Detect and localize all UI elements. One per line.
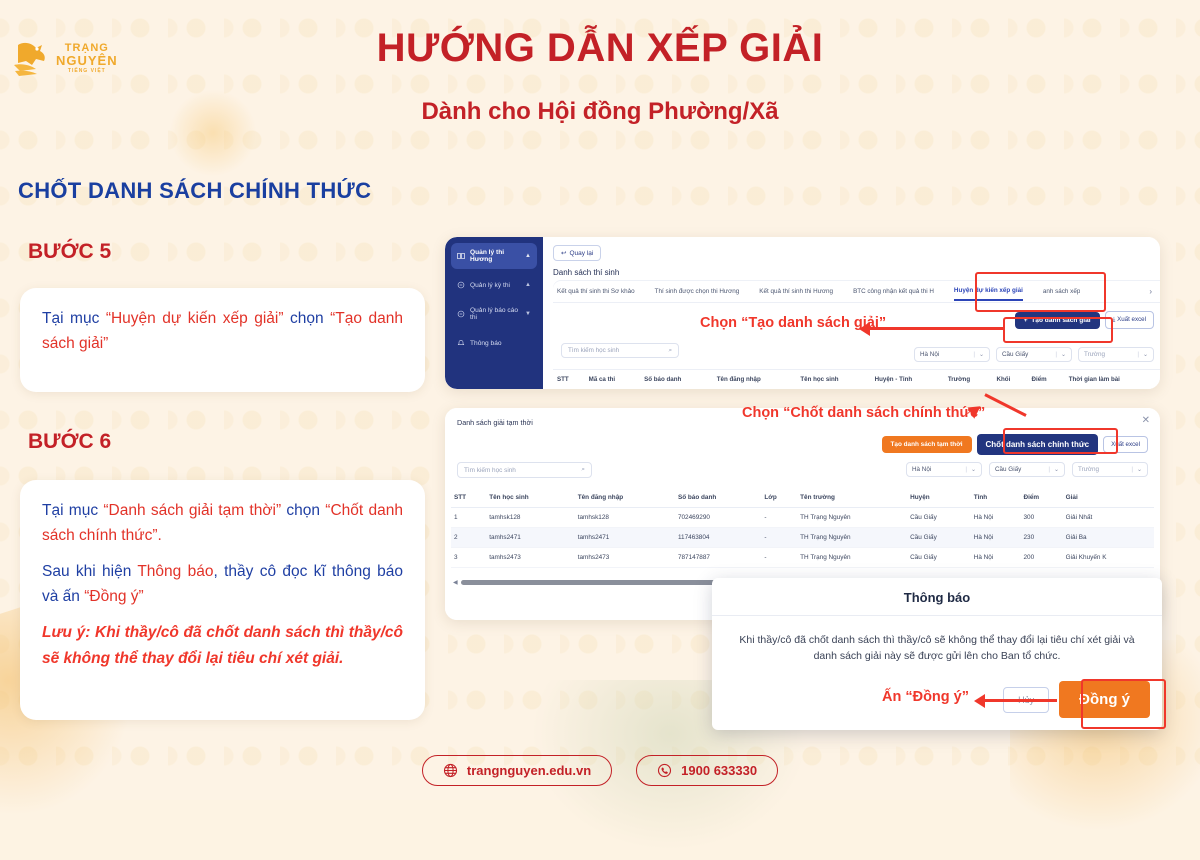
footer: trangnguyen.edu.vn 1900 633330 [0,755,1200,786]
table-row[interactable]: 3tamhs2473tamhs2473787147887-TH Trạng Ng… [451,548,1154,568]
table-cell: Cầu Giấy [907,508,971,528]
table-cell: Giải Ba [1063,528,1154,548]
column-header: Tỉnh [971,488,1021,508]
table-cell: Hà Nội [971,508,1021,528]
table-cell: tamhs2473 [575,548,675,568]
search-icon: ⌕ [668,347,672,355]
book-icon [457,252,465,260]
table-cell: Hà Nội [971,528,1021,548]
column-header: Tên học sinh [486,488,574,508]
chevron-down-icon: ⌄ [971,466,976,473]
table-row[interactable]: 2tamhs2471tamhs2471117463804-TH Trạng Ng… [451,528,1154,548]
tab-bar: Kết quả thí sinh thi Sơ khảo Thí sinh đư… [553,281,1160,303]
globe-icon [443,763,458,778]
search-placeholder: Tìm kiếm học sinh [568,347,619,354]
step-5-text: Tại mục “Huyện dự kiến xếp giải” chọn “T… [42,306,403,356]
export-excel-button[interactable]: Xuất excel [1103,436,1148,453]
table-cell: 1 [451,508,486,528]
table-cell: tamhs2471 [575,528,675,548]
filter-group: Hà Nội |⌄ Cầu Giấy |⌄ Trường |⌄ [906,462,1148,477]
column-header: Tên học sinh [796,370,870,390]
search-input[interactable]: Tìm kiếm học sinh ⌕ [457,462,592,478]
table-cell: 300 [1020,508,1062,528]
filter-province-select[interactable]: Hà Nội |⌄ [906,462,982,477]
section-heading: CHỐT DANH SÁCH CHÍNH THỨC [18,178,371,204]
phone-label: 1900 633330 [681,763,757,778]
table-cell: 230 [1020,528,1062,548]
phone-icon [657,763,672,778]
table-cell: 787147887 [675,548,761,568]
table-cell: TH Trạng Nguyên [797,508,907,528]
chevron-down-icon: ⌄ [1061,351,1066,358]
award-toolbar: Tạo danh sách tạm thời Chốt danh sách ch… [882,434,1149,455]
table-cell: 702469290 [675,508,761,528]
filter-value: Cầu Giấy [995,466,1021,473]
table-cell: Giải Khuyến K [1063,548,1154,568]
panel-card: Kết quả thí sinh thi Sơ khảo Thí sinh đư… [553,281,1160,389]
plus-icon: + [1024,317,1028,324]
step-6-text-2: Sau khi hiện Thông báo, thầy cô đọc kĩ t… [42,559,403,609]
column-header: Số báo danh [640,370,713,390]
undo-arrow-icon: ↩ [561,249,566,257]
finalize-list-button[interactable]: Chốt danh sách chính thức [977,434,1099,455]
table-header-row: STTTên học sinhTên đăng nhậpSố báo danhL… [451,488,1154,508]
sidebar-item-quan-ly-thi-huong[interactable]: Quản lý thi Hương ▲ [451,243,537,269]
step-6-text-1: Tại mục “Danh sách giải tạm thời” chọn “… [42,498,403,548]
filter-value: Trường [1084,351,1105,358]
page-subtitle: Dành cho Hội đồng Phường/Xã [0,98,1200,126]
filter-province-select[interactable]: Hà Nội |⌄ [914,347,990,362]
tab-thi-sinh-duoc-chon[interactable]: Thí sinh được chọn thi Hương [655,283,740,300]
annotation-confirm: Ấn “Đồng ý” [882,689,969,705]
sidebar-item-quan-ly-bao-cao-thi[interactable]: Quản lý báo cáo thi ▼ [451,301,537,327]
arrow-head-1 [859,322,870,336]
table-header-row: STTMã ca thiSố báo danhTên đăng nhậpTên … [553,370,1160,390]
bell-icon [457,339,465,347]
award-panel-title: Danh sách giải tạm thời [457,418,533,427]
table-cell: tamhsk128 [575,508,675,528]
step-6-label: BƯỚC 6 [28,430,111,454]
sidebar-item-thong-bao[interactable]: Thông báo [451,333,537,353]
step-6-card: Tại mục “Danh sách giải tạm thời” chọn “… [20,480,425,720]
table-cell: 3 [451,548,486,568]
chevron-down-icon: ⌄ [979,351,984,358]
sidebar-label: Thông báo [470,340,502,347]
minus-circle-icon [457,310,465,318]
chevron-down-icon: ⌄ [1137,466,1142,473]
chevron-up-icon: ▲ [525,282,531,288]
column-header: Tên đăng nhập [713,370,797,390]
tab-huyen-du-kien-xep-giai[interactable]: Huyện dự kiến xếp giải [954,282,1023,301]
page-title: HƯỚNG DẪN XẾP GIẢI [0,26,1200,71]
column-header: Điểm [1020,488,1062,508]
table-cell: - [761,528,797,548]
filter-value: Hà Nội [920,351,939,358]
table-cell: - [761,548,797,568]
chevron-down-icon: ⌄ [1143,351,1148,358]
step-5-label: BƯỚC 5 [28,240,111,264]
filter-district-select[interactable]: Cầu Giấy |⌄ [996,347,1072,362]
confirmation-modal: Thông báo Khi thầy/cô đã chốt danh sách … [712,578,1162,730]
sidebar-label: Quản lý thi Hương [470,249,520,263]
column-header: Giải [1063,488,1154,508]
column-header: Tên trường [797,488,907,508]
create-temp-list-button[interactable]: Tạo danh sách tạm thời [882,436,972,453]
arrow-head-3 [974,694,985,708]
confirm-button[interactable]: Đồng ý [1059,681,1150,718]
column-header: STT [451,488,486,508]
export-excel-label: Xuất excel [1117,316,1146,323]
column-header: Tên đăng nhập [575,488,675,508]
column-header: Trường [944,370,993,390]
column-header: Lớp [761,488,797,508]
tab-danh-sach-xep-giai[interactable]: anh sách xếp [1043,283,1080,300]
filter-school-select[interactable]: Trường |⌄ [1078,347,1154,362]
sidebar-item-quan-ly-ky-thi[interactable]: Quản lý kỳ thi ▲ [451,275,537,295]
table-cell: Cầu Giấy [907,528,971,548]
phone-pill[interactable]: 1900 633330 [636,755,778,786]
filter-value: Trường [1078,466,1099,473]
filter-value: Cầu Giấy [1002,351,1028,358]
filter-value: Hà Nội [912,466,931,473]
screenshot-candidate-list: Quản lý thi Hương ▲ Quản lý kỳ thi ▲ Quả… [445,237,1160,389]
modal-body-text: Khi thầy/cô đã chốt danh sách thì thầy/c… [712,616,1162,665]
search-icon: ⌕ [581,466,585,474]
candidate-table: STTMã ca thiSố báo danhTên đăng nhậpTên … [553,369,1160,389]
minus-circle-icon [457,281,465,289]
table-cell: - [761,508,797,528]
column-header: Mã ca thi [585,370,640,390]
tab-btc-cong-nhan[interactable]: BTC công nhận kết quả thi H [853,283,934,300]
award-table: STTTên học sinhTên đăng nhậpSố báo danhL… [451,488,1154,568]
app-sidebar: Quản lý thi Hương ▲ Quản lý kỳ thi ▲ Quả… [445,237,543,389]
toolbar: + Tạo danh sách giải ⤓ Xuất excel [1015,311,1154,329]
table-cell: TH Trạng Nguyên [797,528,907,548]
back-button-label: Quay lại [569,250,593,257]
sidebar-label: Quản lý báo cáo thi [470,307,520,321]
table-cell: tamhsk128 [486,508,574,528]
table-cell: Hà Nội [971,548,1021,568]
chevron-down-icon: ⌄ [1054,466,1059,473]
column-header: Thời gian làm bài [1065,370,1160,390]
create-award-list-label: Tạo danh sách giải [1031,317,1090,324]
arrow-line-1 [870,327,1005,330]
tab-ket-qua-so-khao[interactable]: Kết quả thí sinh thi Sơ khảo [557,283,635,300]
close-icon[interactable]: ✕ [1142,416,1150,426]
search-input[interactable]: Tìm kiếm học sinh ⌕ [561,343,679,358]
website-pill[interactable]: trangnguyen.edu.vn [422,755,612,786]
pane-title: Danh sách thí sinh [553,268,1160,277]
app-main-pane: ↩ Quay lại Danh sách thí sinh Kết quả th… [543,237,1160,389]
column-header: STT [553,370,585,390]
column-header: Huyện - Tỉnh [871,370,944,390]
step-5-card: Tại mục “Huyện dự kiến xếp giải” chọn “T… [20,288,425,392]
table-cell: TH Trạng Nguyên [797,548,907,568]
chevron-right-icon[interactable]: › [1149,287,1156,296]
modal-title: Thông báo [712,578,1162,615]
column-header: Điểm [1028,370,1065,390]
chevron-down-icon: ▼ [525,311,531,317]
website-label: trangnguyen.edu.vn [467,763,591,778]
download-icon: ⤓ [1113,316,1116,323]
table-cell: 2 [451,528,486,548]
export-excel-button[interactable]: ⤓ Xuất excel [1105,311,1154,329]
search-placeholder: Tìm kiếm học sinh [464,467,516,474]
back-button[interactable]: ↩ Quay lại [553,245,601,261]
table-cell: 117463804 [675,528,761,548]
annotation-finalize-list: Chọn “Chốt danh sách chính thức” [742,405,985,421]
filter-school-select[interactable]: Trường |⌄ [1072,462,1148,477]
column-header: Khối [993,370,1028,390]
create-award-list-button[interactable]: + Tạo danh sách giải [1015,312,1100,329]
table-cell: Giải Nhất [1063,508,1154,528]
table-cell: tamhs2471 [486,528,574,548]
filter-district-select[interactable]: Cầu Giấy |⌄ [989,462,1065,477]
filter-group: Hà Nội |⌄ Cầu Giấy |⌄ Trường |⌄ [914,347,1154,362]
column-header: Huyện [907,488,971,508]
table-row[interactable]: 1tamhsk128tamhsk128702469290-TH Trạng Ng… [451,508,1154,528]
tab-ket-qua-thi-huong[interactable]: Kết quả thí sinh thi Hương [759,283,833,300]
table-cell: tamhs2473 [486,548,574,568]
chevron-up-icon: ▲ [525,253,531,259]
step-6-note: Lưu ý: Khi thầy/cô đã chốt danh sách thì… [42,620,403,670]
table-body: 1tamhsk128tamhsk128702469290-TH Trạng Ng… [451,508,1154,568]
sidebar-label: Quản lý kỳ thi [470,282,510,289]
column-header: Số báo danh [675,488,761,508]
table-cell: Cầu Giấy [907,548,971,568]
arrow-line-3 [985,699,1057,702]
table-cell: 200 [1020,548,1062,568]
chevron-left-icon[interactable]: ◀ [453,579,458,586]
